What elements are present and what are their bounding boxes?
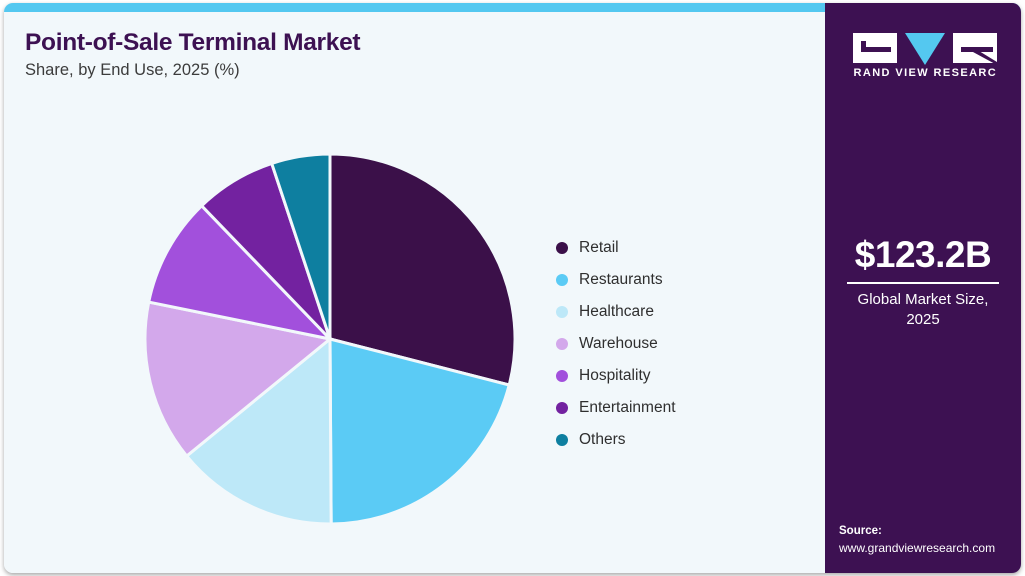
legend-item-label: Hospitality (579, 367, 651, 385)
legend-item[interactable]: Hospitality (556, 360, 676, 392)
gvr-logo-icon: GRAND VIEW RESEARCH (853, 31, 997, 79)
source-url[interactable]: www.grandviewresearch.com (839, 540, 1019, 557)
legend-item[interactable]: Entertainment (556, 392, 676, 424)
legend-item-label: Warehouse (579, 335, 658, 353)
legend-item-label: Others (579, 431, 626, 449)
brand-name: GRAND VIEW RESEARCH (853, 67, 997, 79)
pie-chart-svg (134, 137, 530, 537)
legend-item[interactable]: Healthcare (556, 296, 676, 328)
market-size-stat: $123.2B Global Market Size, 2025 (825, 236, 1021, 330)
chart-legend: RetailRestaurantsHealthcareWarehouseHosp… (556, 232, 676, 456)
chart-main-area: Point-of-Sale Terminal Market Share, by … (4, 12, 825, 573)
legend-swatch-icon (556, 338, 568, 350)
legend-item-label: Restaurants (579, 271, 663, 289)
legend-item[interactable]: Others (556, 424, 676, 456)
legend-swatch-icon (556, 274, 568, 286)
stat-divider (847, 282, 999, 284)
chart-infographic: Point-of-Sale Terminal Market Share, by … (0, 0, 1025, 576)
legend-item[interactable]: Retail (556, 232, 676, 264)
card-surface: Point-of-Sale Terminal Market Share, by … (4, 3, 1021, 573)
source-label: Source: (839, 523, 1019, 540)
legend-swatch-icon (556, 370, 568, 382)
legend-item-label: Healthcare (579, 303, 654, 321)
pie-chart (134, 137, 530, 537)
source-footer: Source: www.grandviewresearch.com (839, 523, 1019, 557)
market-size-caption: Global Market Size, 2025 (825, 290, 1021, 331)
legend-swatch-icon (556, 434, 568, 446)
legend-swatch-icon (556, 306, 568, 318)
market-size-value: $123.2B (825, 236, 1021, 275)
gvr-logo: GRAND VIEW RESEARCH (853, 31, 997, 79)
legend-item[interactable]: Warehouse (556, 328, 676, 360)
legend-swatch-icon (556, 402, 568, 414)
page-title: Point-of-Sale Terminal Market (25, 29, 360, 57)
brand-sidebar: GRAND VIEW RESEARCH $123.2B Global Marke… (825, 3, 1021, 573)
legend-item[interactable]: Restaurants (556, 264, 676, 296)
legend-item-label: Retail (579, 239, 619, 257)
page-subtitle: Share, by End Use, 2025 (%) (25, 61, 240, 80)
legend-item-label: Entertainment (579, 399, 676, 417)
legend-swatch-icon (556, 242, 568, 254)
